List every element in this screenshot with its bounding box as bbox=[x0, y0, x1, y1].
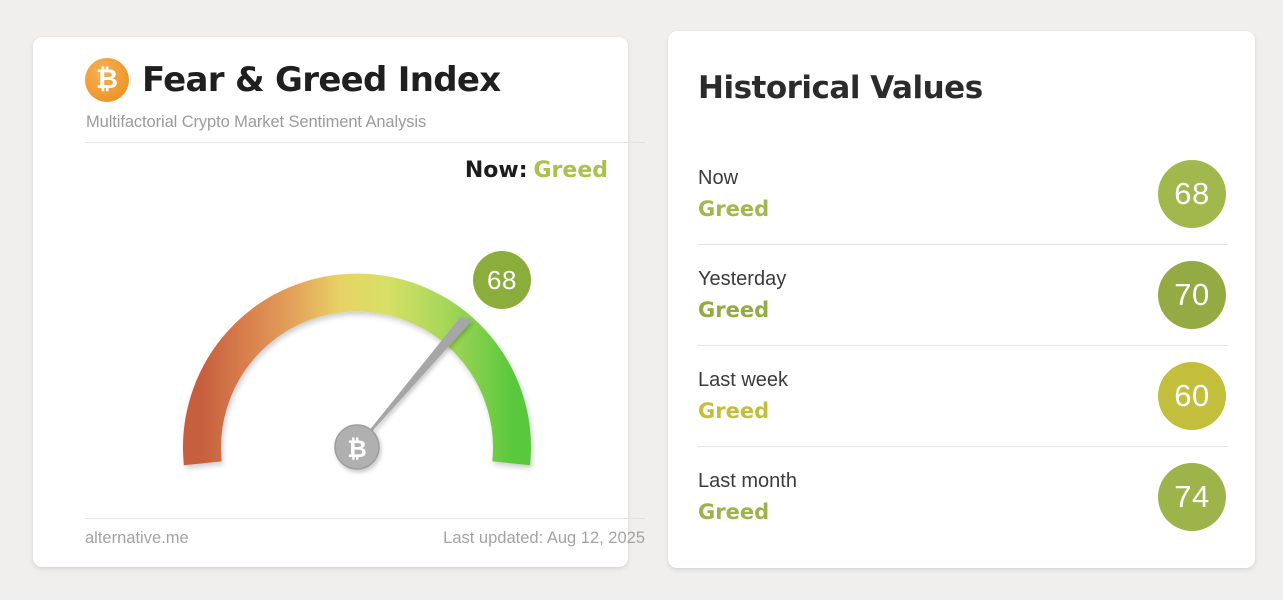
page-title: Fear & Greed Index bbox=[142, 60, 501, 100]
historical-values-list: NowGreed68YesterdayGreed70Last weekGreed… bbox=[698, 144, 1228, 547]
bitcoin-glyph: ₿ bbox=[96, 66, 118, 93]
list-item: Last monthGreed74 bbox=[698, 447, 1228, 547]
gauge-chart: ₿ 68 bbox=[33, 195, 628, 535]
list-item-sentiment: Greed bbox=[698, 399, 788, 423]
list-item-period: Last week bbox=[698, 369, 788, 392]
page-root: ₿ Fear & Greed Index Multifactorial Cryp… bbox=[0, 0, 1283, 600]
source-link[interactable]: alternative.me bbox=[85, 529, 189, 548]
gauge-hub: ₿ bbox=[335, 425, 379, 469]
header-divider bbox=[85, 142, 645, 143]
last-updated: Last updated: Aug 12, 2025 bbox=[443, 529, 645, 548]
page-subtitle: Multifactorial Crypto Market Sentiment A… bbox=[86, 113, 426, 132]
footer-divider bbox=[85, 518, 645, 519]
gauge-card-footer: alternative.me Last updated: Aug 12, 202… bbox=[85, 529, 645, 548]
list-item: YesterdayGreed70 bbox=[698, 245, 1228, 346]
list-item-texts: Last monthGreed bbox=[698, 470, 797, 524]
gauge-card-header: ₿ Fear & Greed Index bbox=[85, 58, 501, 102]
list-item-period: Yesterday bbox=[698, 268, 786, 291]
status-badge: 68 bbox=[1158, 160, 1226, 228]
status-badge: 74 bbox=[1158, 463, 1226, 531]
bitcoin-icon: ₿ bbox=[85, 58, 129, 102]
list-item-texts: Last weekGreed bbox=[698, 369, 788, 423]
list-item-period: Now bbox=[698, 167, 769, 190]
list-item: NowGreed68 bbox=[698, 144, 1228, 245]
now-value: Greed bbox=[534, 158, 609, 183]
now-label: Now: bbox=[465, 158, 528, 183]
hub-bitcoin-glyph: ₿ bbox=[347, 435, 367, 463]
list-item-sentiment: Greed bbox=[698, 298, 786, 322]
fear-greed-gauge-card: ₿ Fear & Greed Index Multifactorial Cryp… bbox=[33, 37, 628, 567]
status-badge: 70 bbox=[1158, 261, 1226, 329]
list-item-sentiment: Greed bbox=[698, 197, 769, 221]
list-item-texts: NowGreed bbox=[698, 167, 769, 221]
historical-values-title: Historical Values bbox=[698, 70, 983, 106]
list-item-texts: YesterdayGreed bbox=[698, 268, 786, 322]
status-badge: 60 bbox=[1158, 362, 1226, 430]
list-item: Last weekGreed60 bbox=[698, 346, 1228, 447]
gauge-value-badge: 68 bbox=[473, 251, 531, 309]
historical-values-card: Historical Values NowGreed68YesterdayGre… bbox=[668, 31, 1255, 568]
list-item-sentiment: Greed bbox=[698, 500, 797, 524]
gauge-svg: ₿ bbox=[33, 195, 628, 535]
list-item-period: Last month bbox=[698, 470, 797, 493]
now-status: Now:Greed bbox=[465, 158, 608, 183]
